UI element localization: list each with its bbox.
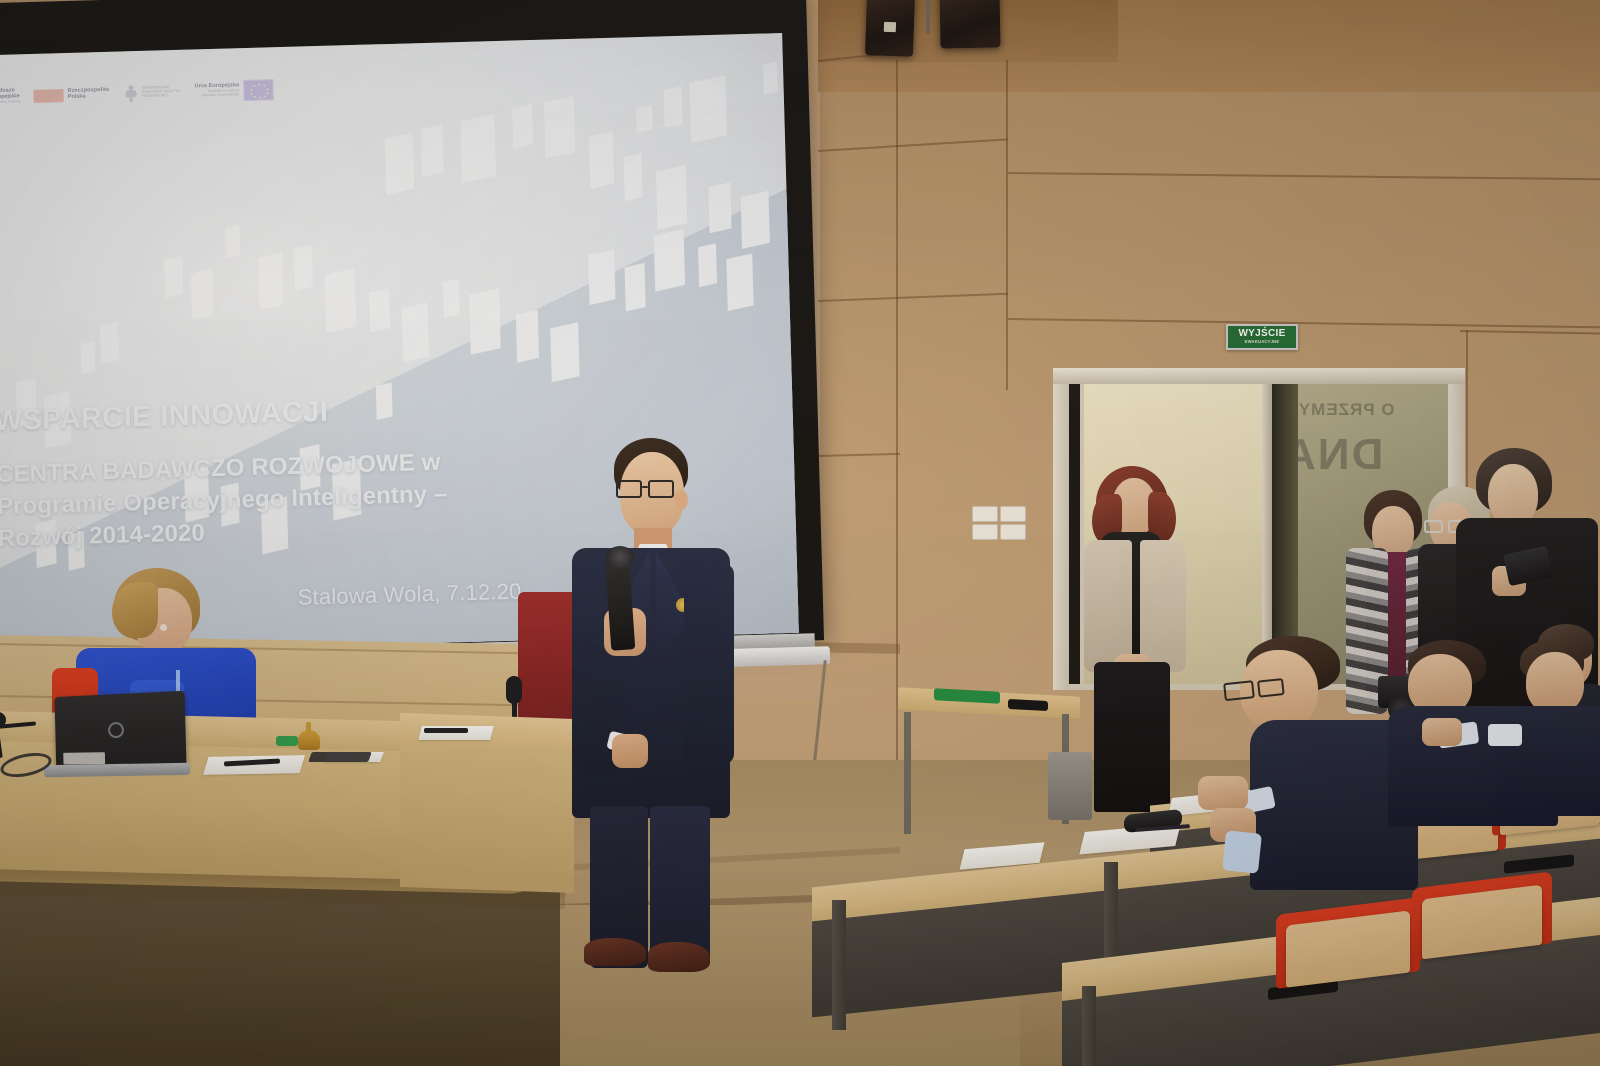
woman-in-black-head	[1488, 464, 1538, 526]
logo-rzeczpospolita-polska: Rzeczpospolita Polska	[34, 87, 110, 102]
eu-flag-icon	[243, 79, 274, 101]
desk-leg	[832, 900, 846, 1030]
speaker-mount-bracket	[926, 0, 930, 34]
presenter-shoe-right	[648, 942, 710, 972]
microphone-head-icon	[506, 676, 522, 704]
exit-sign: WYJŚCIE EWAKUACYJNE	[1226, 324, 1298, 350]
poland-flag-icon	[34, 89, 64, 103]
audience-right-cuff	[1488, 724, 1522, 746]
audience-second-hand	[1422, 718, 1462, 746]
presidium-desk-right-front	[400, 741, 574, 893]
wall-outlet[interactable]	[1000, 506, 1026, 522]
desk-leg	[1082, 986, 1096, 1066]
laptop-base	[44, 763, 190, 778]
microphone-head-icon	[606, 546, 634, 568]
brass-bell-handle	[306, 722, 311, 732]
presenter-glasses	[614, 480, 688, 500]
ceiling-speaker	[939, 0, 1000, 49]
wall-outlet[interactable]	[1000, 524, 1026, 540]
audience-right-head	[1526, 652, 1584, 714]
polish-eagle-icon	[123, 85, 138, 102]
slide-logo-strip: Fundusze Europejskie Inteligentny Rozwój…	[0, 62, 304, 123]
logo-line3: REGIONALNEJ	[142, 94, 181, 99]
moderator-hair-side	[112, 582, 158, 638]
standing-woman-blazer-left	[1084, 540, 1132, 672]
person-presenter	[572, 438, 732, 998]
logo-ministerstwo: MINISTERSTWO FUNDUSZY I POLITYKI REGIONA…	[123, 83, 181, 102]
dell-logo-icon	[108, 722, 124, 738]
presenter-hand-lower	[612, 734, 648, 768]
moderator-earring	[160, 624, 167, 631]
laptop-sticker	[63, 752, 105, 764]
remote-control[interactable]	[1008, 699, 1048, 711]
wall-panel-seam-vertical	[1006, 60, 1008, 390]
standing-woman-dress	[1094, 662, 1170, 812]
logo-unia-europejska: Unia Europejska Europejski Fundusz Rozwo…	[195, 79, 274, 102]
wall-outlet[interactable]	[972, 506, 998, 522]
speaker-badge-icon	[884, 22, 896, 32]
ceiling-speaker	[865, 0, 915, 57]
standing-woman-blazer-right	[1140, 540, 1186, 672]
exit-sign-label: WYJŚCIE	[1238, 329, 1285, 339]
logo-fundusze-europejskie: Fundusze Europejskie Inteligentny Rozwój	[0, 89, 20, 106]
conference-photo: Fundusze Europejskie Inteligentny Rozwój…	[0, 0, 1600, 1066]
exit-sign-sublabel: EWAKUACYJNE	[1245, 340, 1280, 344]
side-table-leg	[904, 712, 911, 834]
audience-front-hand	[1198, 776, 1248, 810]
green-object	[276, 736, 298, 746]
presenter-shoe-left	[584, 938, 646, 966]
wall-panel-seam-vertical	[896, 60, 898, 760]
brass-bell[interactable]	[298, 730, 320, 750]
wall-outlet[interactable]	[972, 524, 998, 540]
waste-bin	[1048, 752, 1092, 820]
audience-front-sleeve	[1222, 830, 1262, 874]
presenter-arm-right	[684, 564, 734, 764]
door-header	[1053, 368, 1465, 384]
paper-document	[203, 755, 305, 775]
dell-laptop[interactable]	[55, 691, 187, 771]
logo-line3: Inteligentny Rozwój	[0, 100, 20, 105]
dark-folder	[308, 752, 372, 762]
audience-right-suit	[1498, 706, 1600, 816]
slide-text-block: WSPARCIE INNOWACJI CENTRA BADAWCZO ROZWO…	[0, 390, 598, 554]
person-audience-right	[1498, 640, 1600, 800]
pen	[424, 728, 468, 733]
door-jamb-left	[1053, 368, 1069, 690]
logo-line2: Polska	[68, 94, 110, 101]
logo-line3: Rozwoju Regionalnego	[195, 93, 240, 98]
